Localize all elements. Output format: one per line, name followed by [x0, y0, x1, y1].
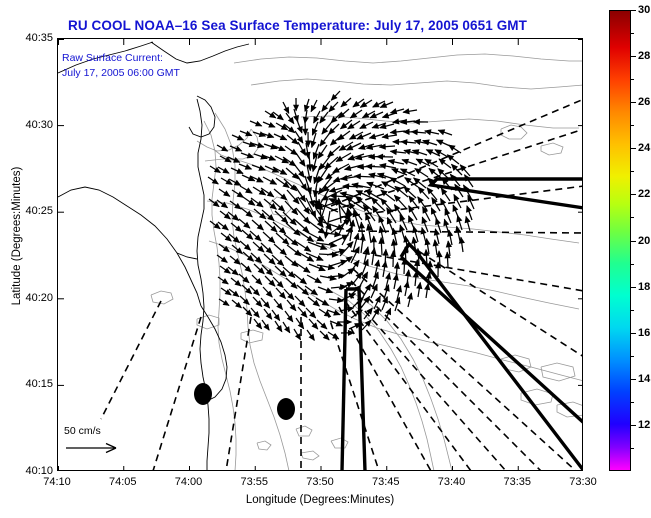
- current-vector-head: [446, 241, 451, 247]
- colorbar-tick-label: 20: [638, 235, 650, 247]
- x-tick-label: 73:50: [292, 476, 348, 488]
- current-vector-head: [322, 195, 329, 200]
- current-vector-head: [304, 246, 310, 252]
- colorbar-tick-mark: [631, 194, 636, 195]
- current-vector-field: [208, 91, 474, 340]
- current-vector-head: [407, 293, 412, 299]
- current-vector-head: [311, 289, 317, 295]
- current-vector-head: [392, 169, 399, 174]
- current-vector-head: [414, 139, 420, 144]
- current-vector-head: [274, 314, 280, 320]
- colorbar-ticks: 30282624222018161412: [609, 10, 651, 471]
- contour-line: [331, 438, 348, 448]
- colorbar-tick-mark: [631, 379, 636, 380]
- current-vector-head: [375, 296, 380, 303]
- current-vector-head: [350, 112, 356, 118]
- current-vector-head: [367, 182, 374, 187]
- current-vector-head: [371, 236, 376, 242]
- current-vector-head: [311, 105, 316, 111]
- current-vector-head: [431, 208, 436, 215]
- current-vector-head: [449, 145, 455, 150]
- current-vector-head: [300, 149, 305, 156]
- current-vector-head: [408, 216, 413, 223]
- colorbar-minor-tick: [631, 217, 634, 218]
- page-title: RU COOL NOAA–16 Sea Surface Temperature:…: [0, 18, 595, 33]
- current-vector-head: [411, 130, 417, 135]
- colorbar-minor-tick: [631, 125, 634, 126]
- current-vector-head: [375, 260, 380, 266]
- current-vector-head: [441, 199, 446, 205]
- contour-line: [257, 441, 271, 450]
- radial-beam: [409, 245, 583, 357]
- current-vector-head: [333, 334, 339, 339]
- current-vector-head: [303, 117, 308, 123]
- current-vector-head: [353, 260, 359, 266]
- current-vector-head: [246, 188, 253, 193]
- current-vector-head: [320, 117, 326, 123]
- current-vector-head: [346, 319, 352, 324]
- colorbar-minor-tick: [631, 356, 634, 357]
- current-vector-head: [465, 217, 470, 223]
- current-vector-head: [309, 334, 314, 340]
- current-vector-head: [256, 121, 262, 126]
- contour-line: [541, 363, 575, 381]
- current-vector-head: [317, 236, 324, 241]
- current-vector-head: [221, 257, 227, 262]
- current-vector-head: [404, 236, 409, 242]
- contour-line: [251, 79, 583, 89]
- current-vector-head: [296, 334, 301, 340]
- current-vector-head: [393, 139, 399, 144]
- current-vector-head: [437, 251, 442, 257]
- radar-station-marker: [277, 398, 295, 420]
- current-vector-head: [386, 273, 391, 279]
- contour-line: [296, 426, 312, 436]
- current-vector-head: [383, 113, 389, 118]
- colorbar-minor-tick: [631, 79, 634, 80]
- current-vector-head: [405, 270, 410, 276]
- coastline-segment: [58, 42, 153, 73]
- colorbar-tick-mark: [631, 425, 636, 426]
- current-vector-head: [257, 177, 264, 182]
- current-vector-head: [416, 159, 423, 164]
- colorbar-tick-mark: [631, 333, 636, 334]
- current-vector-head: [352, 183, 358, 188]
- colorbar-tick-mark: [631, 102, 636, 103]
- current-vector-head: [394, 205, 400, 211]
- current-vector-head: [279, 146, 286, 151]
- current-vector-head: [304, 207, 310, 213]
- current-vector-head: [301, 184, 306, 190]
- y-tick-label: 40:35: [9, 32, 53, 44]
- current-vector-head: [234, 158, 240, 163]
- radial-beam: [153, 317, 201, 471]
- coastline-segment: [58, 187, 201, 306]
- current-vector-head: [390, 129, 396, 134]
- current-vector-head: [365, 284, 370, 290]
- colorbar-tick-label: 24: [638, 142, 650, 154]
- current-vector-head: [412, 237, 417, 243]
- current-vector-head: [214, 223, 220, 229]
- current-vector-head: [280, 135, 287, 140]
- x-tick-label: 74:00: [161, 476, 217, 488]
- current-vector-head: [307, 176, 312, 182]
- current-vector-head: [348, 155, 355, 160]
- current-vector-head: [425, 130, 431, 135]
- current-vector-head: [297, 126, 302, 132]
- current-vector-head: [369, 134, 375, 139]
- current-vector-head: [350, 134, 357, 139]
- current-vector-head: [326, 288, 333, 293]
- current-vector-head: [353, 101, 359, 107]
- x-tick-label: 73:45: [358, 476, 414, 488]
- current-vector-head: [455, 226, 460, 232]
- current-vector-head: [311, 141, 316, 148]
- current-vector-head: [312, 165, 317, 171]
- colorbar-minor-tick: [631, 264, 634, 265]
- current-vector-head: [300, 160, 306, 166]
- current-vector-head: [354, 233, 359, 239]
- current-vector-head: [444, 219, 449, 226]
- map-canvas: [58, 39, 583, 471]
- contour-line: [541, 143, 563, 155]
- y-axis-label: Latitude (Degrees:Minutes): [11, 136, 23, 336]
- colorbar-tick-label: 30: [638, 4, 650, 16]
- radar-coverage-wedges: [342, 179, 583, 471]
- current-vector-head: [267, 133, 273, 138]
- current-vector-head: [303, 129, 308, 135]
- current-vector-head: [355, 174, 361, 179]
- colorbar-minor-tick: [631, 310, 634, 311]
- current-vector-head: [264, 324, 269, 330]
- current-vector-head: [222, 146, 228, 151]
- colorbar-minor-tick: [631, 33, 634, 34]
- plot-area: Raw Surface Current: July 17, 2005 06:00…: [57, 38, 583, 471]
- current-vector-head: [223, 168, 229, 173]
- current-vector-head: [441, 188, 447, 194]
- current-vector-head: [307, 236, 313, 242]
- current-vector-head: [246, 131, 252, 136]
- x-tick-label: 73:55: [226, 476, 282, 488]
- x-tick-label: 74:10: [29, 476, 85, 488]
- current-vector-head: [386, 308, 391, 315]
- current-vector-head: [422, 217, 427, 224]
- current-vector-head: [434, 229, 439, 235]
- current-vector-head: [399, 225, 404, 231]
- current-vector-head: [377, 154, 383, 159]
- contour-line: [501, 125, 527, 139]
- current-vector-head: [223, 301, 229, 306]
- coastline: [58, 42, 249, 471]
- coverage-wedge-edge: [431, 179, 583, 208]
- contour-line: [234, 54, 583, 63]
- radial-beam: [339, 307, 431, 471]
- current-vector-head: [366, 164, 372, 169]
- current-vector-head: [415, 169, 421, 175]
- coastline-segment: [197, 99, 209, 471]
- colorbar-tick-mark: [631, 10, 636, 11]
- colorbar-tick-label: 28: [638, 50, 650, 62]
- colorbar-tick-mark: [631, 287, 636, 288]
- current-vector-head: [360, 102, 367, 107]
- current-vector-head: [280, 169, 287, 174]
- y-tick-label: 40:15: [9, 378, 53, 390]
- colorbar-tick-mark: [631, 148, 636, 149]
- current-vector-head: [333, 167, 340, 172]
- current-vector-head: [373, 102, 380, 107]
- current-vector-head: [245, 164, 251, 169]
- current-vector-head: [391, 109, 397, 114]
- colorbar-tick-label: 22: [638, 188, 650, 200]
- current-vector-head: [372, 123, 379, 128]
- current-vector-head: [222, 279, 228, 284]
- colorbar-tick-label: 16: [638, 327, 650, 339]
- current-vector-head: [435, 218, 440, 224]
- contour-line: [151, 291, 173, 304]
- radial-beam: [226, 317, 251, 471]
- current-vector-head: [285, 327, 290, 333]
- current-vector-head: [237, 135, 243, 140]
- radar-station-markers: [194, 383, 295, 420]
- colorbar-minor-tick: [631, 402, 634, 403]
- current-vector-head: [383, 249, 388, 255]
- current-vector-head: [360, 234, 365, 240]
- current-vector-head: [317, 256, 324, 261]
- current-vector-head: [388, 159, 394, 164]
- current-vector-head: [453, 205, 458, 212]
- current-vector-head: [237, 192, 243, 198]
- current-vector-head: [318, 152, 324, 158]
- current-vector-head: [348, 124, 354, 129]
- current-vector-head: [421, 228, 426, 235]
- colorbar-tick-mark: [631, 241, 636, 242]
- colorbar-minor-tick: [631, 171, 634, 172]
- current-vector-head: [364, 247, 369, 253]
- x-tick-label: 73:30: [555, 476, 611, 488]
- current-vector-head: [298, 323, 304, 329]
- coverage-wedge-edge: [342, 289, 346, 471]
- current-vector-head: [366, 190, 372, 195]
- current-vector-head: [457, 216, 462, 223]
- x-axis-label: Longitude (Degrees:Minutes): [57, 494, 583, 506]
- current-vector-head: [417, 283, 422, 289]
- current-vector-head: [366, 214, 371, 221]
- current-vector-head: [363, 113, 370, 118]
- current-vector-head: [437, 140, 444, 145]
- current-vector-head: [270, 179, 277, 184]
- current-vector-head: [403, 129, 409, 134]
- current-vector-head: [426, 150, 433, 155]
- current-vector-head: [418, 197, 424, 203]
- colorbar-tick-mark: [631, 56, 636, 57]
- current-vector-head: [413, 226, 418, 232]
- current-vector-head: [224, 191, 230, 196]
- current-vector-head: [359, 222, 364, 228]
- current-vector-head: [307, 256, 314, 261]
- current-vector-head: [405, 178, 411, 184]
- current-vector-head: [401, 140, 407, 145]
- colorbar-minor-tick: [631, 448, 634, 449]
- current-vector-head: [324, 311, 330, 317]
- current-vector-head: [304, 267, 310, 273]
- colorbar-tick-label: 26: [638, 96, 650, 108]
- figure-root: RU COOL NOAA–16 Sea Surface Temperature:…: [0, 0, 651, 518]
- current-vector-head: [360, 123, 367, 128]
- current-vector-head: [438, 130, 445, 135]
- contour-line: [301, 451, 319, 460]
- current-vector-head: [394, 262, 399, 268]
- current-vector-head: [212, 179, 218, 184]
- current-vector-head: [269, 156, 276, 161]
- y-tick-label: 40:30: [9, 119, 53, 131]
- current-vector-head: [322, 300, 328, 305]
- colorbar-tick-label: 12: [638, 419, 650, 431]
- x-tick-label: 74:05: [95, 476, 151, 488]
- current-vector-head: [404, 149, 410, 154]
- current-vector-head: [236, 146, 242, 151]
- contour-line: [241, 330, 263, 343]
- current-vector-head: [382, 182, 389, 187]
- current-vector-head: [397, 286, 402, 292]
- current-vector-head: [329, 187, 335, 192]
- colorbar-tick-label: 14: [638, 373, 650, 385]
- current-vector-head: [390, 149, 396, 154]
- current-vector-head: [315, 278, 322, 283]
- current-vector-head: [383, 297, 388, 304]
- current-vector-head: [339, 145, 346, 150]
- current-vector-head: [267, 191, 273, 197]
- current-vector-head: [364, 296, 370, 302]
- current-vector-head: [466, 206, 471, 213]
- current-vector-head: [284, 107, 289, 113]
- current-vector-head: [333, 177, 340, 182]
- current-vector-head: [380, 163, 386, 168]
- x-tick-label: 73:40: [424, 476, 480, 488]
- current-vector-head: [235, 203, 241, 209]
- contour-line: [353, 293, 452, 471]
- x-axis-ticks: 74:1074:0574:0073:5573:5073:4573:4073:35…: [57, 476, 583, 492]
- current-vector-head: [237, 169, 243, 174]
- current-vector-head: [359, 144, 366, 149]
- current-vector-head: [382, 261, 387, 267]
- radial-beam: [101, 301, 161, 419]
- current-vector-head: [312, 129, 317, 136]
- current-vector-head: [320, 140, 326, 146]
- current-vector-head: [277, 326, 282, 332]
- current-vector-head: [287, 316, 293, 322]
- current-vector-head: [409, 206, 414, 213]
- current-vector-head: [269, 123, 275, 128]
- coastline-segment: [151, 42, 249, 63]
- current-vector-head: [454, 195, 459, 202]
- current-vector-head: [433, 240, 438, 246]
- x-tick-label: 73:35: [489, 476, 545, 488]
- current-vector-head: [387, 218, 392, 225]
- current-vector-head: [259, 166, 266, 171]
- current-vector-head: [414, 119, 420, 124]
- current-vector-head: [371, 248, 376, 254]
- current-vector-head: [257, 201, 263, 207]
- radar-station-marker: [194, 383, 212, 405]
- colorbar-tick-label: 18: [638, 281, 650, 293]
